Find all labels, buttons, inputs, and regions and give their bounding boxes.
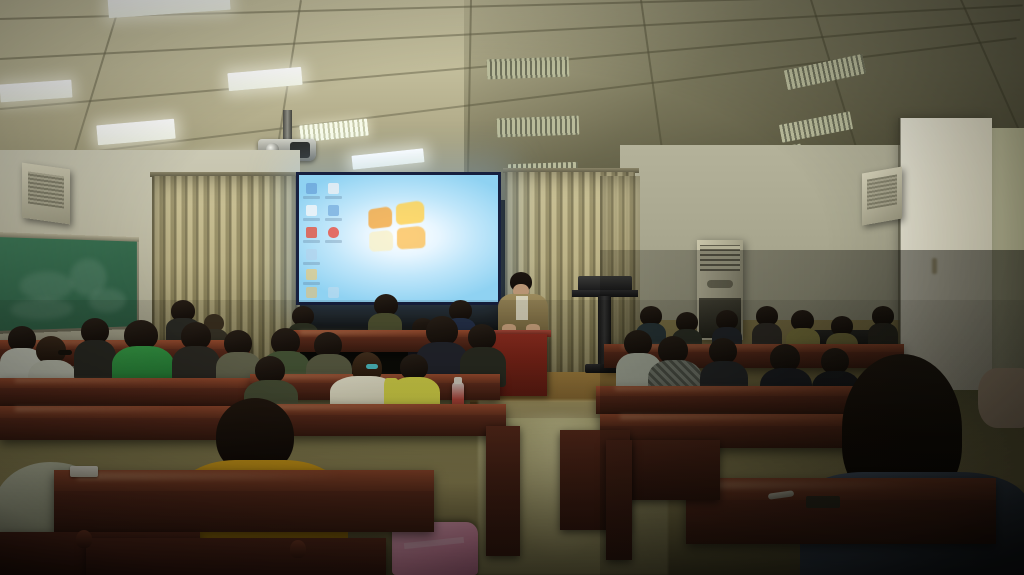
desk-row-frontmost — [686, 478, 996, 544]
lecture-hall-photo: Lecture hall presentation University cla… — [0, 0, 1024, 575]
tissue-pack — [70, 466, 98, 477]
bench-row — [86, 538, 386, 575]
ceiling-vent-panel — [487, 57, 570, 80]
bench-end-knob — [290, 540, 306, 558]
desktop-icon — [306, 183, 317, 194]
green-chalkboard — [0, 232, 139, 334]
projector-mount-pole — [283, 110, 292, 142]
desk-row-frontmost — [54, 470, 434, 532]
bench-end-knob — [76, 530, 92, 548]
desktop-icon — [306, 249, 317, 260]
desktop-icon — [306, 269, 317, 280]
aisle-seat-back — [486, 426, 520, 556]
audience-member — [172, 322, 218, 384]
ceiling-vent-panel — [497, 116, 580, 138]
column-smudge — [932, 258, 937, 274]
chalkboard-surface — [0, 237, 137, 331]
eyeglasses-icon — [58, 350, 72, 355]
hair-tie — [366, 364, 378, 369]
desktop-icon — [306, 227, 317, 238]
wall-speaker-left-icon — [22, 163, 70, 225]
phone-on-desk — [806, 496, 840, 508]
desktop-icon-qq — [328, 227, 339, 238]
desktop-icon — [328, 205, 339, 216]
projection-screen-surface — [299, 175, 498, 302]
audience-member — [74, 318, 116, 378]
speaker-grille — [28, 171, 64, 208]
wall-speaker-right-icon — [862, 166, 902, 225]
desktop-icon-column — [304, 181, 346, 293]
audience-member — [978, 368, 1024, 428]
desktop-icon — [306, 205, 317, 216]
desktop-icon — [328, 287, 339, 298]
speaker-grille — [867, 174, 897, 209]
aisle-seat-back — [606, 440, 632, 560]
presenter-shirt — [516, 296, 528, 320]
desktop-icon — [328, 183, 339, 194]
water-bottle-cap — [454, 377, 462, 384]
ac-brand-badge — [707, 280, 733, 288]
windows-logo-icon — [368, 202, 425, 256]
projection-screen — [296, 172, 501, 305]
ac-vent-louvres — [700, 245, 740, 271]
desktop-icon — [306, 287, 317, 298]
equipment-lectern-top — [578, 276, 632, 291]
